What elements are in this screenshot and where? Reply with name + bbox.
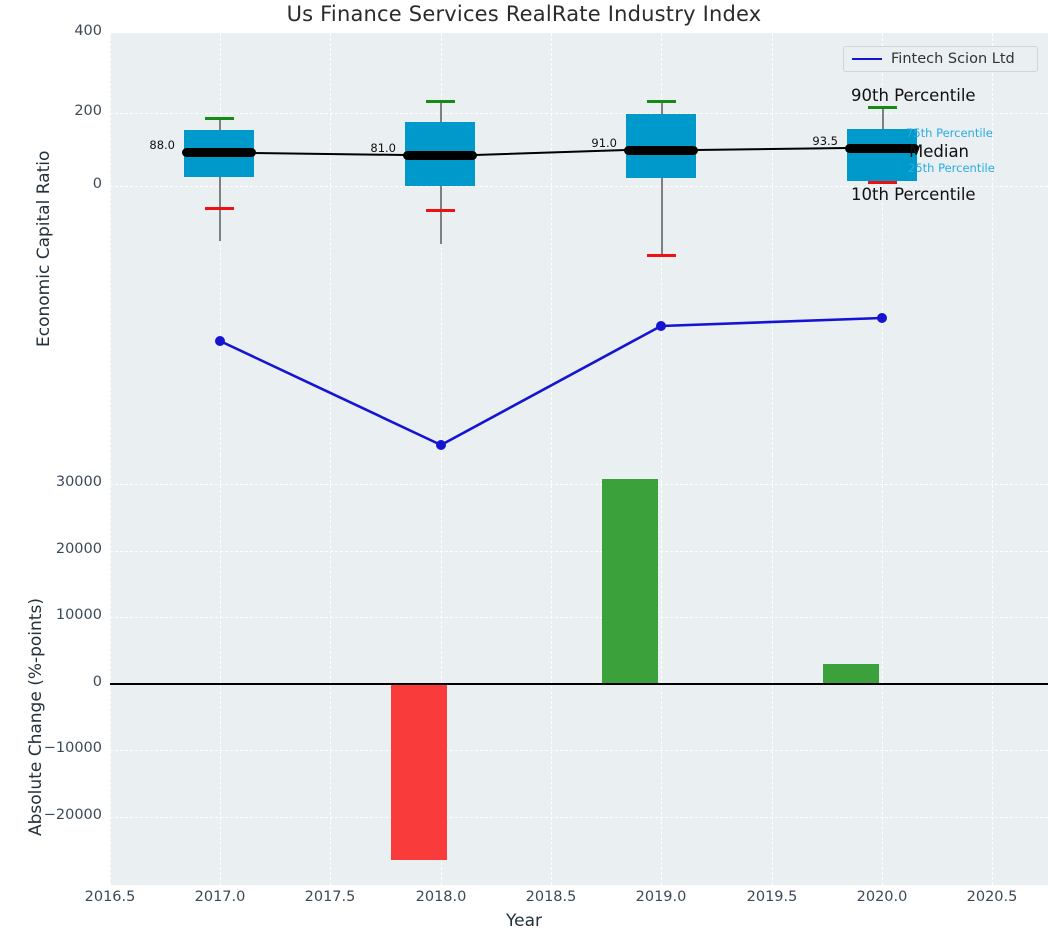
legend[interactable]: Fintech Scion Ltd	[843, 46, 1038, 72]
xtick-2020-0: 2020.0	[857, 889, 908, 905]
series-point-2017	[215, 336, 225, 346]
annotation-90th-percentile: 90th Percentile	[851, 86, 976, 105]
bar-2020	[823, 664, 879, 684]
series-point-2020	[877, 313, 887, 323]
gridline-vb-2020-5	[992, 455, 993, 885]
bottom-panel-barchart	[110, 455, 1048, 885]
gridline-vb-2017-0	[220, 455, 221, 885]
gridline-vb-2019-5	[772, 455, 773, 885]
chart-root: Us Finance Services RealRate Industry In…	[0, 0, 1048, 942]
gridline-bottom-n10000	[110, 750, 1048, 751]
x-axis-label: Year	[0, 911, 1048, 931]
gridline-bottom-n20000	[110, 817, 1048, 818]
gridline-vb-2016-5	[110, 455, 111, 885]
legend-line-icon	[852, 58, 882, 60]
bottom-y-axis-label: Absolute Change (%-points)	[26, 598, 46, 836]
gridline-bottom-10000	[110, 617, 1048, 618]
annotation-75th-percentile: 75th Percentile	[906, 126, 993, 140]
xtick-2019-5: 2019.5	[747, 889, 798, 905]
gridline-bottom-20000	[110, 551, 1048, 552]
chart-title: Us Finance Services RealRate Industry In…	[0, 2, 1048, 26]
annotation-25th-percentile: 25th Percentile	[908, 161, 995, 175]
xtick-2016-5: 2016.5	[85, 889, 136, 905]
xtick-2020-5: 2020.5	[967, 889, 1018, 905]
top-y-axis-label: Economic Capital Ratio	[34, 151, 54, 347]
annotation-median: Median	[909, 142, 969, 161]
gridline-bottom-30000	[110, 484, 1048, 485]
bar-2019	[602, 479, 658, 684]
xtick-2017-0: 2017.0	[195, 889, 246, 905]
xtick-2019-0: 2019.0	[636, 889, 687, 905]
gridline-vb-2019-0	[661, 455, 662, 885]
gridline-vb-2018-5	[551, 455, 552, 885]
xtick-2018-5: 2018.5	[526, 889, 577, 905]
zero-baseline	[110, 683, 1048, 685]
bar-2018	[391, 684, 447, 860]
annotation-10th-percentile: 10th Percentile	[851, 185, 976, 204]
gridline-vb-2020-0	[882, 455, 883, 885]
xtick-2017-5: 2017.5	[305, 889, 356, 905]
series-point-2018	[436, 440, 446, 450]
xtick-2018-0: 2018.0	[416, 889, 467, 905]
series-point-2019	[656, 321, 666, 331]
legend-label-0: Fintech Scion Ltd	[891, 51, 1015, 67]
gridline-vb-2017-5	[330, 455, 331, 885]
